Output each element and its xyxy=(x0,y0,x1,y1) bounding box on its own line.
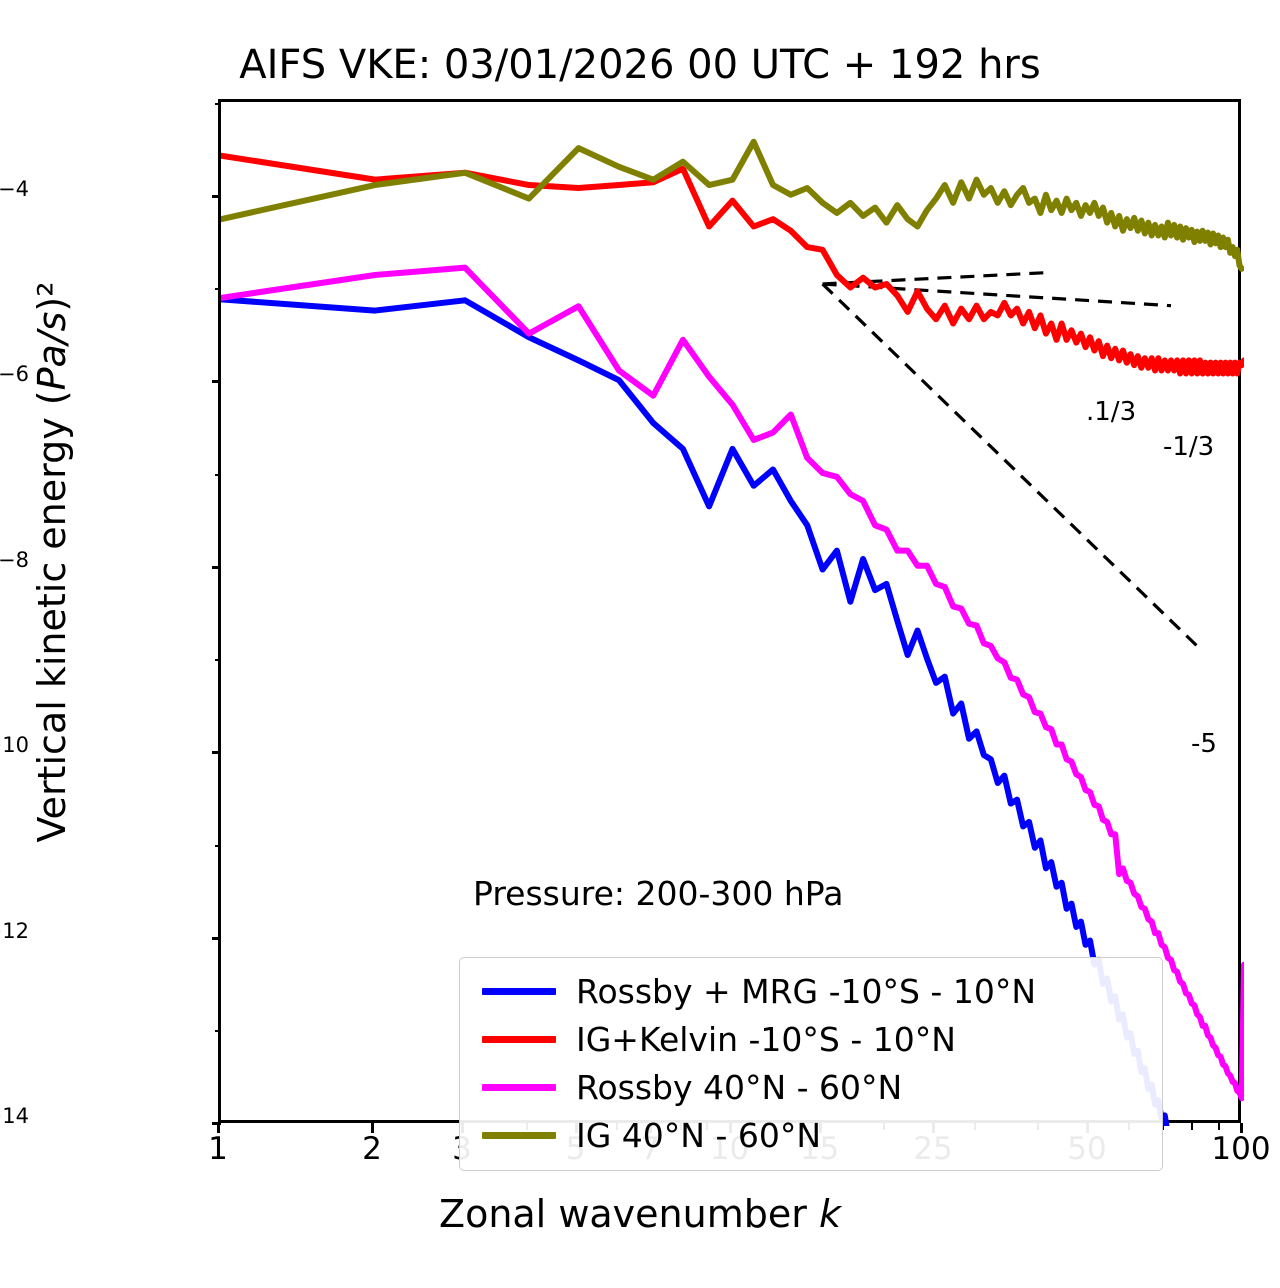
x-tick-label: 100 xyxy=(1211,1131,1270,1167)
slope-label-minus-five: -5 xyxy=(1191,729,1217,759)
legend-item[interactable]: Rossby 40°N - 60°N xyxy=(460,1063,1162,1111)
legend-swatch-ig-kelvin xyxy=(482,1036,556,1043)
pressure-annotation: Pressure: 200-300 hPa xyxy=(473,874,843,913)
reference-line-neg5 xyxy=(823,284,1200,649)
y-axis-label-pre: Vertical kinetic energy ( xyxy=(30,390,74,842)
x-tick-label: 1 xyxy=(208,1131,228,1167)
x-axis-label-symbol: k xyxy=(819,1192,841,1236)
slope-label-minus-one-third: -1/3 xyxy=(1163,432,1214,462)
legend-swatch-rossby-mrg xyxy=(482,988,556,995)
series-line xyxy=(221,156,1244,374)
x-axis-label-main: Zonal wavenumber xyxy=(439,1192,819,1236)
x-tick-label: 2 xyxy=(362,1131,382,1167)
legend-label-ig-mid: IG 40°N - 60°N xyxy=(576,1119,821,1152)
legend-label-ig-kelvin: IG+Kelvin -10°S - 10°N xyxy=(576,1023,956,1056)
legend-swatch-rossby-mid xyxy=(482,1084,556,1091)
slope-label-plus-one-third: .1/3 xyxy=(1086,397,1136,427)
chart-root: AIFS VKE: 03/01/2026 00 UTC + 192 hrs Ve… xyxy=(0,0,1280,1288)
y-axis-label: Vertical kinetic energy (Pa/s)² xyxy=(30,152,74,972)
legend-label-rossby-mid: Rossby 40°N - 60°N xyxy=(576,1071,902,1104)
legend-item[interactable]: IG 40°N - 60°N xyxy=(460,1111,1162,1159)
y-axis-label-post: )² xyxy=(30,282,74,312)
legend-label-rossby-mrg: Rossby + MRG -10°S - 10°N xyxy=(576,975,1036,1008)
x-axis-label: Zonal wavenumber k xyxy=(0,1192,1280,1236)
chart-legend: Rossby + MRG -10°S - 10°N IG+Kelvin -10°… xyxy=(459,957,1163,1171)
y-tick-label: 10−12 xyxy=(0,918,29,956)
y-tick-label: 10−4 xyxy=(0,176,29,214)
y-tick-label: 10−10 xyxy=(0,733,29,771)
chart-title: AIFS VKE: 03/01/2026 00 UTC + 192 hrs xyxy=(0,42,1280,88)
x-tick-mark xyxy=(217,1123,220,1133)
y-tick-label: 10−6 xyxy=(0,362,29,400)
y-axis-label-unit: Pa/s xyxy=(30,312,74,391)
legend-item[interactable]: Rossby + MRG -10°S - 10°N xyxy=(460,967,1162,1015)
plot-area: Rossby + MRG -10°S - 10°N IG+Kelvin -10°… xyxy=(218,99,1241,1123)
y-tick-label: 10−14 xyxy=(0,1104,29,1142)
legend-swatch-ig-mid xyxy=(482,1132,556,1139)
y-tick-label: 10−8 xyxy=(0,547,29,585)
legend-item[interactable]: IG+Kelvin -10°S - 10°N xyxy=(460,1015,1162,1063)
